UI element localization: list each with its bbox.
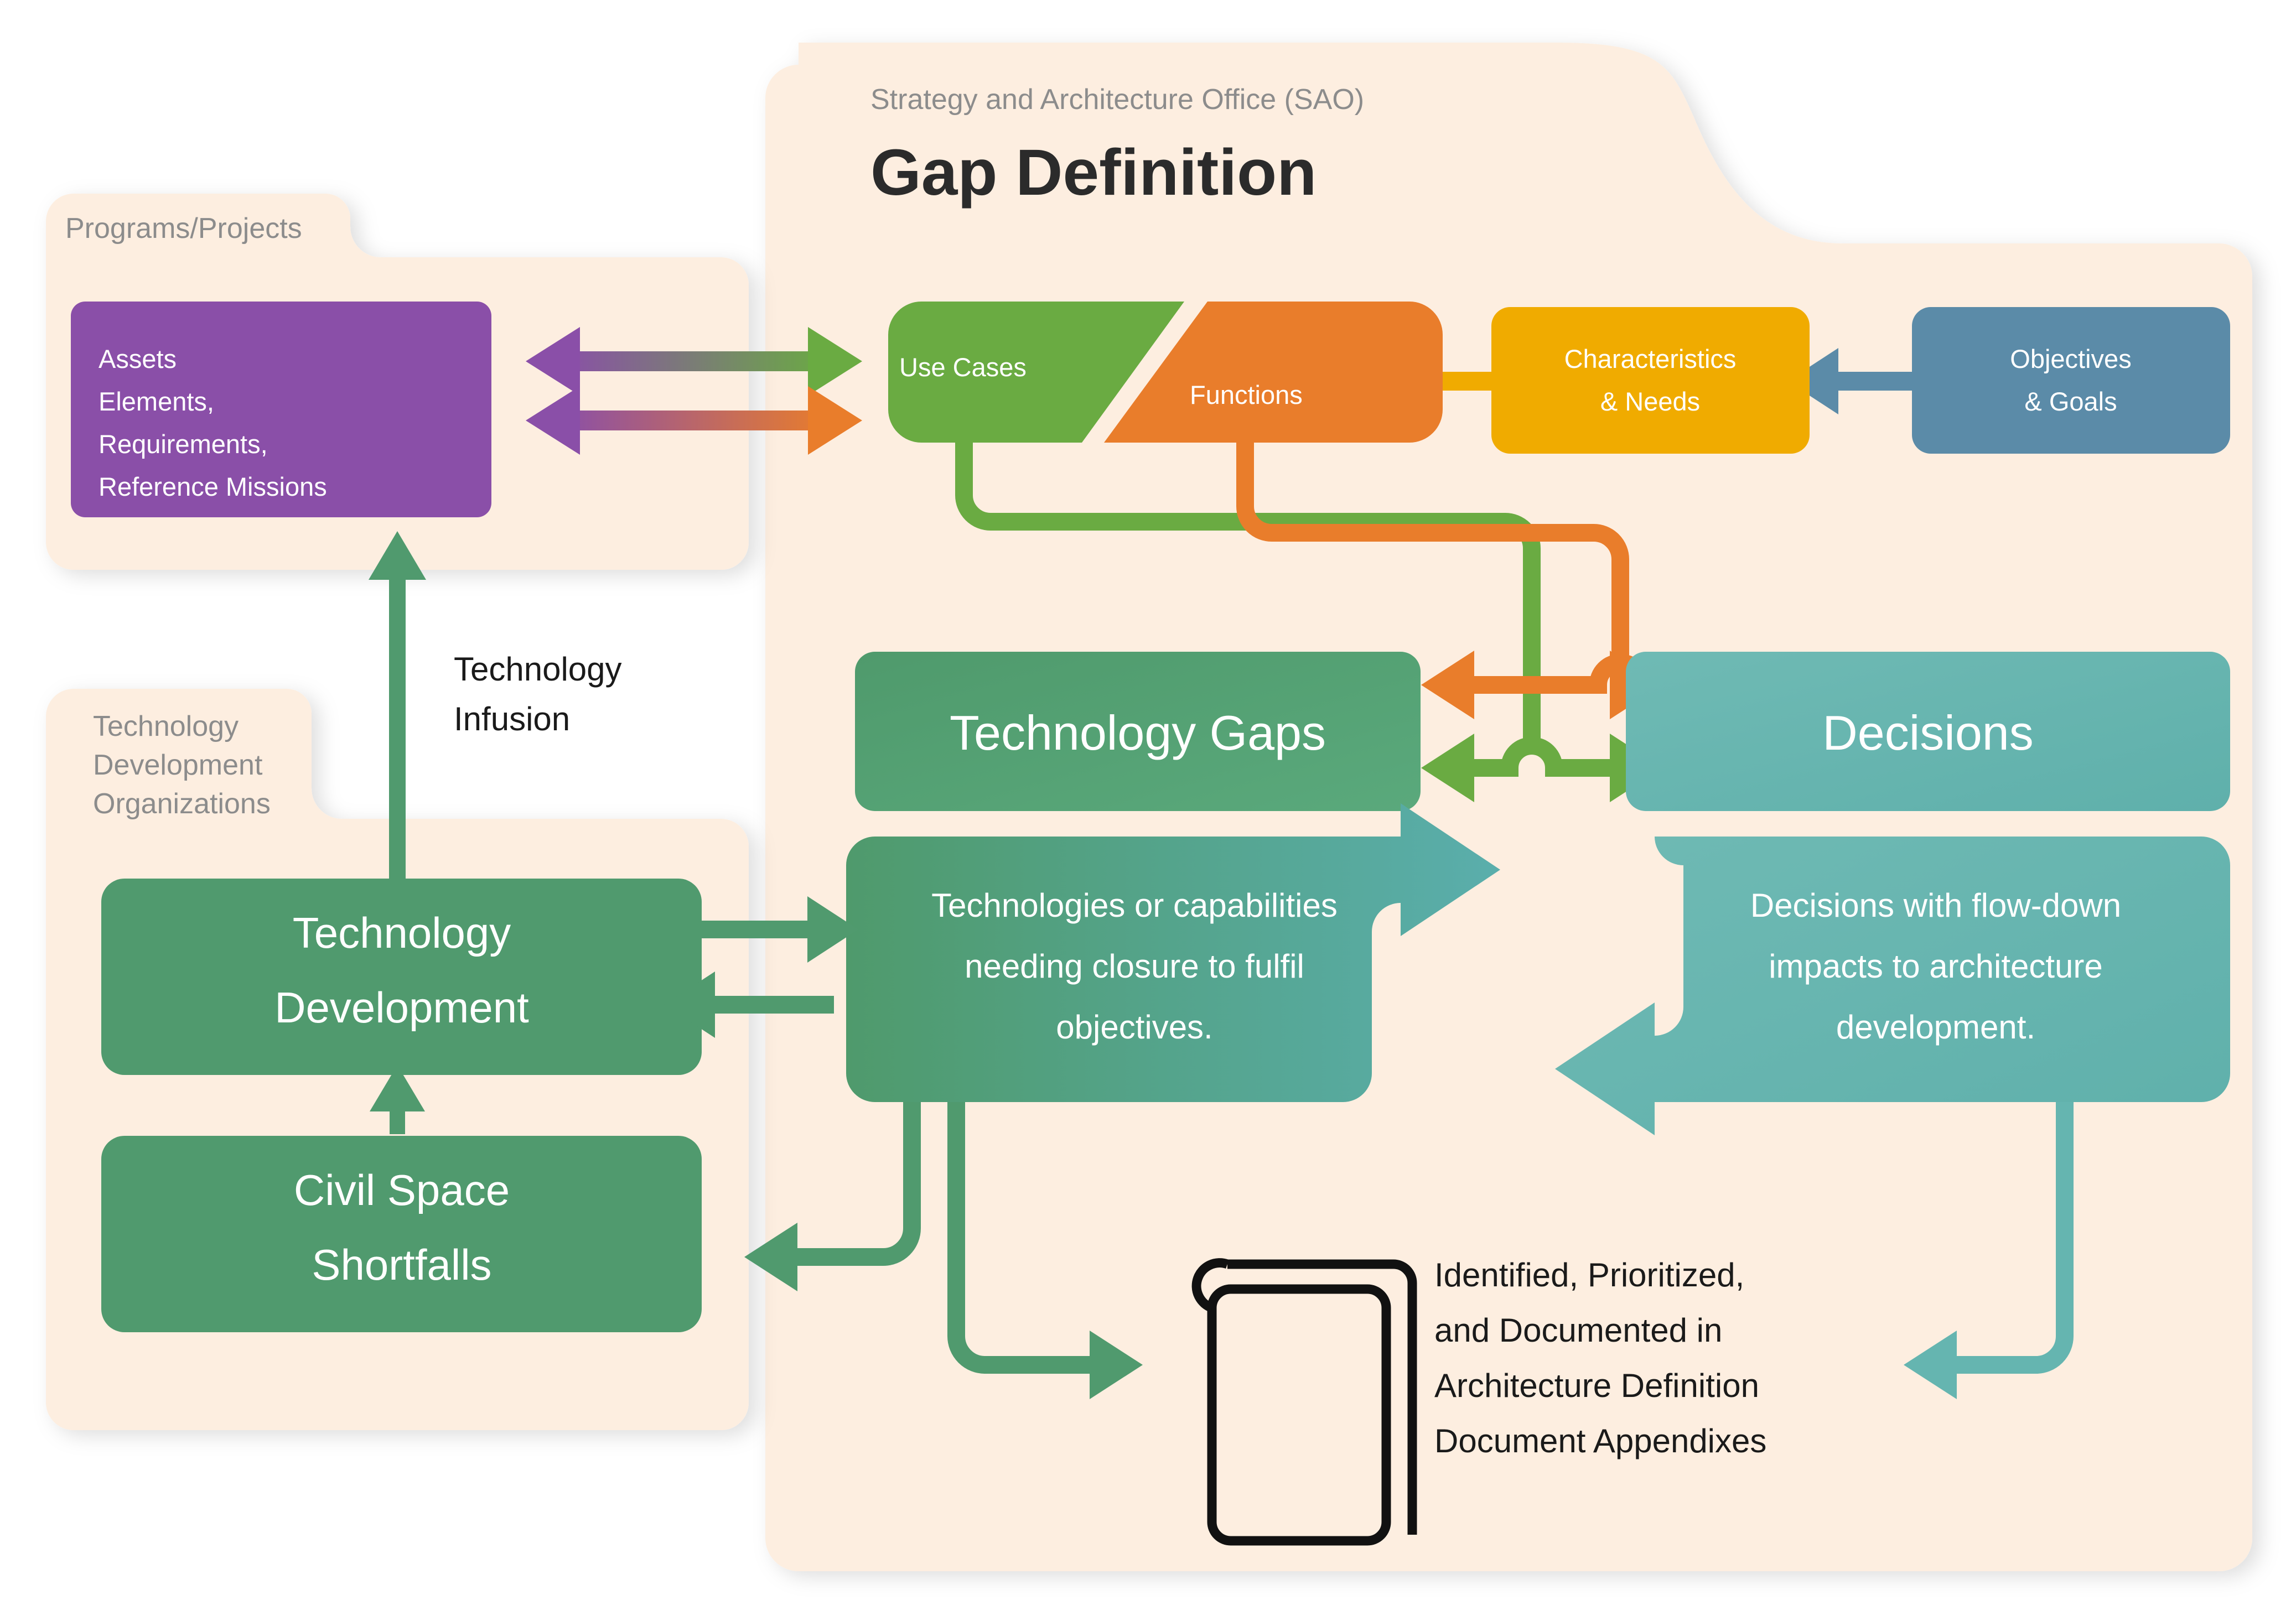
box-characteristics-needs[interactable]: Characteristics & Needs <box>1491 307 1810 454</box>
box-assets-line2: Elements, <box>99 387 214 416</box>
label-technology-infusion-line1: Technology <box>454 651 622 688</box>
document-caption-line2: and Documented in <box>1434 1312 1722 1349</box>
box-civil-space-shortfalls-line2: Shortfalls <box>312 1240 491 1289</box>
box-technology-development-line2: Development <box>274 983 529 1032</box>
label-technology-infusion-line2: Infusion <box>454 700 570 737</box>
panel-label-tech-dev-orgs-line3: Organizations <box>93 788 271 820</box>
box-technology-gaps-label: Technology Gaps <box>950 705 1326 760</box>
box-decisions-desc-line1: Decisions with flow-down <box>1750 887 2121 924</box>
page-title: Gap Definition <box>870 136 1317 209</box>
panel-label-tech-dev-orgs-line2: Development <box>93 749 263 781</box>
box-decisions[interactable]: Decisions <box>1626 652 2230 811</box>
diagram-canvas: Strategy and Architecture Office (SAO) G… <box>0 0 2296 1600</box>
box-technology-gaps[interactable]: Technology Gaps <box>855 652 1421 811</box>
box-technology-gaps-desc-line1: Technologies or capabilities <box>931 887 1338 924</box>
panel-label-tech-dev-orgs-line1: Technology <box>93 710 239 742</box>
box-civil-space-shortfalls[interactable]: Civil Space Shortfalls <box>101 1136 702 1332</box>
box-technology-gaps-desc-line2: needing closure to fulfil <box>965 948 1304 985</box>
panel-label-programs-projects: Programs/Projects <box>65 212 302 245</box>
box-assets[interactable]: Assets Elements, Requirements, Reference… <box>71 302 491 517</box>
box-assets-line4: Reference Missions <box>99 472 327 501</box>
box-decisions-label: Decisions <box>1822 705 2033 760</box>
box-objectives-goals-line2: & Goals <box>2024 387 2117 416</box>
box-objectives-goals-line1: Objectives <box>2010 344 2131 373</box>
box-objectives-goals[interactable]: Objectives & Goals <box>1912 307 2230 454</box>
box-assets-line1: Assets <box>99 344 177 373</box>
box-technology-development[interactable]: Technology Development <box>101 879 702 1075</box>
box-technology-gaps-desc-line3: objectives. <box>1056 1009 1212 1046</box>
box-civil-space-shortfalls-line1: Civil Space <box>294 1166 510 1214</box>
diagram-svg: Strategy and Architecture Office (SAO) G… <box>0 0 2296 1600</box>
sao-panel-label: Strategy and Architecture Office (SAO) <box>870 84 1364 116</box>
document-caption-line3: Architecture Definition <box>1434 1367 1759 1404</box>
box-use-cases-label: Use Cases <box>899 352 1027 382</box>
box-assets-line3: Requirements, <box>99 429 268 459</box>
box-functions-label: Functions <box>1190 380 1303 409</box>
box-decisions-desc-line2: impacts to architecture <box>1769 948 2103 985</box>
document-caption-line1: Identified, Prioritized, <box>1434 1256 1744 1293</box>
box-characteristics-needs-line2: & Needs <box>1600 387 1700 416</box>
box-technology-development-line1: Technology <box>293 908 511 957</box>
box-characteristics-needs-line1: Characteristics <box>1564 344 1737 373</box>
box-decisions-desc-line3: development. <box>1836 1009 2035 1046</box>
document-caption-line4: Document Appendixes <box>1434 1422 1766 1459</box>
